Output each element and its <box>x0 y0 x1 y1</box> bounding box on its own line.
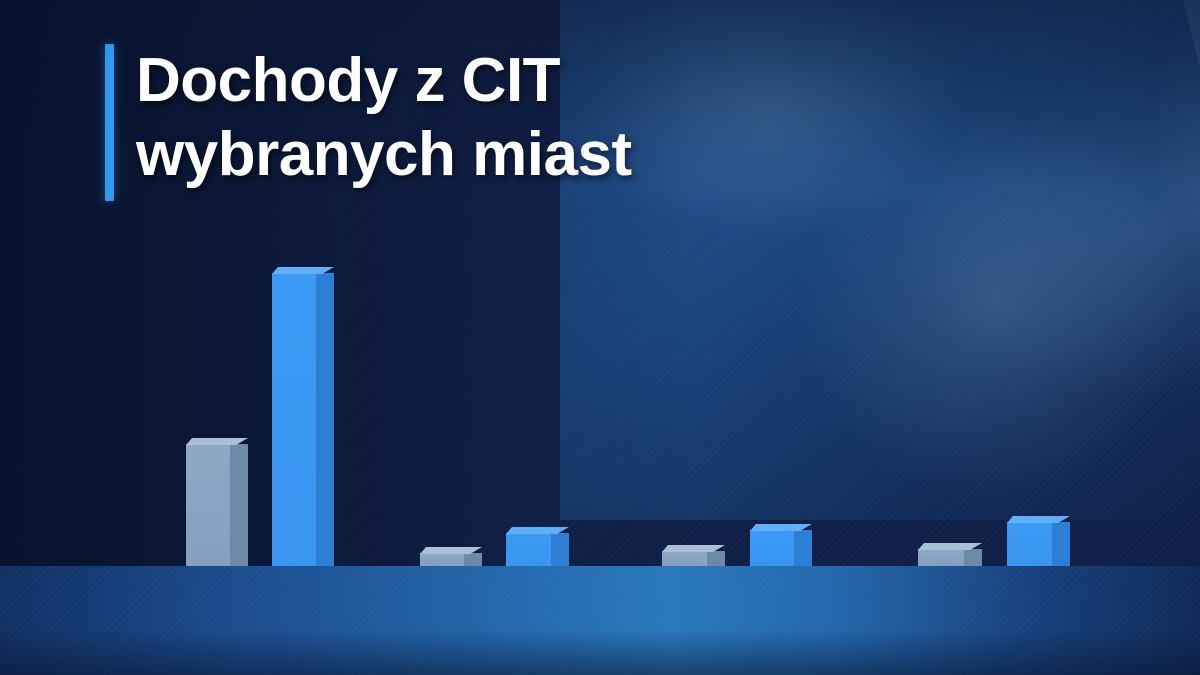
bar-side <box>551 533 569 566</box>
bar-wroclaw-2022[interactable] <box>750 530 812 566</box>
bar-side <box>316 273 334 566</box>
bar-side <box>464 553 482 566</box>
bar-warszawa-2015[interactable] <box>186 444 248 566</box>
bar-gdansk-2022[interactable] <box>506 533 569 566</box>
bar-wroclaw-2015[interactable] <box>662 551 725 566</box>
bar-warszawa-2022[interactable] <box>272 273 334 566</box>
bar-side <box>794 530 812 566</box>
bar-gdansk-2015[interactable] <box>420 553 482 566</box>
bar-krakow-2015[interactable] <box>918 549 982 566</box>
bar-side <box>1052 522 1070 566</box>
infographic-slide: Dochody z CIT wybranych miast 587 mln zł… <box>0 0 1200 675</box>
bar-side <box>230 444 248 566</box>
bar-krakow-2022[interactable] <box>1007 522 1070 566</box>
bar-chart: 587 mln zł blisko 1,4 mld zł Wzrost o 13… <box>0 0 1200 675</box>
bar-side <box>964 549 982 566</box>
bar-side <box>707 551 725 566</box>
